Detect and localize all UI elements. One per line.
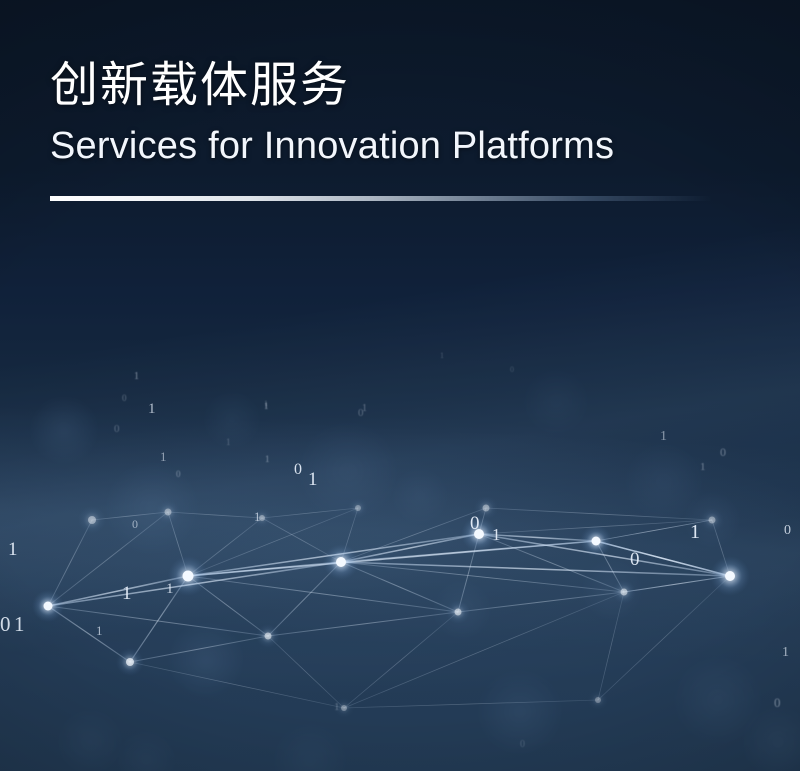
binary-digit: 0 [774, 696, 781, 709]
binary-digit: 0 [114, 424, 120, 435]
binary-digit: 0 [294, 462, 302, 478]
binary-digit: 0 [176, 470, 181, 479]
binary-digit: 0 [122, 394, 127, 403]
binary-digit: 1 [226, 438, 231, 447]
binary-digit: 1 [700, 462, 706, 473]
binary-digit: 0 [510, 366, 514, 374]
binary-digit: 1 [265, 455, 270, 464]
binary-digit: 1 [440, 352, 444, 360]
binary-digit: 1 [134, 372, 139, 382]
binary-digit: 1 [660, 430, 667, 444]
binary-digit: 1 [8, 540, 18, 559]
binary-digit: 0 [0, 614, 11, 635]
binary-digit: 0 [520, 740, 525, 750]
binary-digit: 1 [782, 646, 789, 660]
page-title-english: Services for Innovation Platforms [50, 126, 614, 168]
binary-digit: 0 [720, 446, 726, 458]
binary-digit: 1 [14, 614, 25, 635]
binary-digit: 1 [690, 522, 700, 542]
page-title-chinese: 创新载体服务 [50, 58, 614, 114]
binary-digit: 0 [630, 550, 640, 569]
binary-digit: 1 [308, 470, 318, 489]
binary-digit: 1 [334, 702, 340, 713]
binary-digit: 1 [254, 510, 261, 523]
binary-digit: 0 [132, 518, 138, 530]
binary-digit: 1 [148, 402, 156, 417]
headline-block: 创新载体服务 Services for Innovation Platforms [50, 58, 614, 167]
binary-digit: 1 [122, 584, 132, 603]
title-divider [50, 196, 712, 201]
binary-digit: 1 [96, 624, 103, 637]
binary-digit: 1 [166, 582, 174, 597]
innovation-platforms-banner: 10101011111010110110111101010110101010 创… [0, 0, 800, 771]
binary-digit: 1 [492, 526, 501, 543]
binary-digit: 1 [264, 403, 268, 411]
binary-digit: 0 [470, 514, 480, 533]
binary-digit: 0 [784, 524, 791, 538]
binary-digit: 1 [362, 404, 367, 414]
binary-digit: 1 [160, 450, 167, 463]
